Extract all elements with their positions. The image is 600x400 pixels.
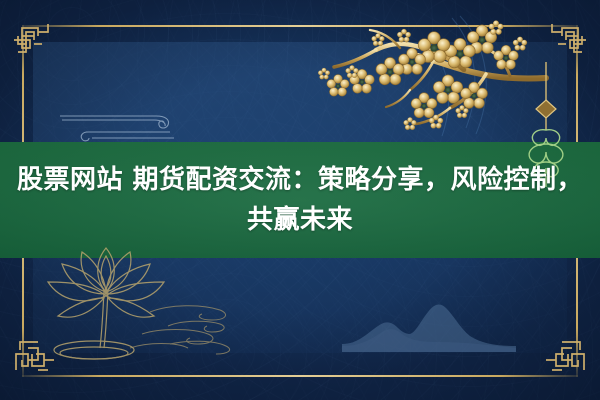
corner-knot-top-left <box>8 14 62 68</box>
title-line-1: 股票网站 期货配资交流：策略分享，风险控制， <box>17 160 583 200</box>
decorative-banner: 股票网站 期货配资交流：策略分享，风险控制， 共赢未来 <box>0 0 600 400</box>
title-line-2: 共赢未来 <box>247 200 353 240</box>
meander-knot-icon <box>538 334 592 388</box>
mountain-silhouette-icon <box>340 282 520 352</box>
banner-title: 股票网站 期货配资交流：策略分享，风险控制， 共赢未来 <box>0 142 600 258</box>
corner-meander-bottom-right <box>538 334 592 388</box>
chinese-knot-icon <box>8 14 62 68</box>
